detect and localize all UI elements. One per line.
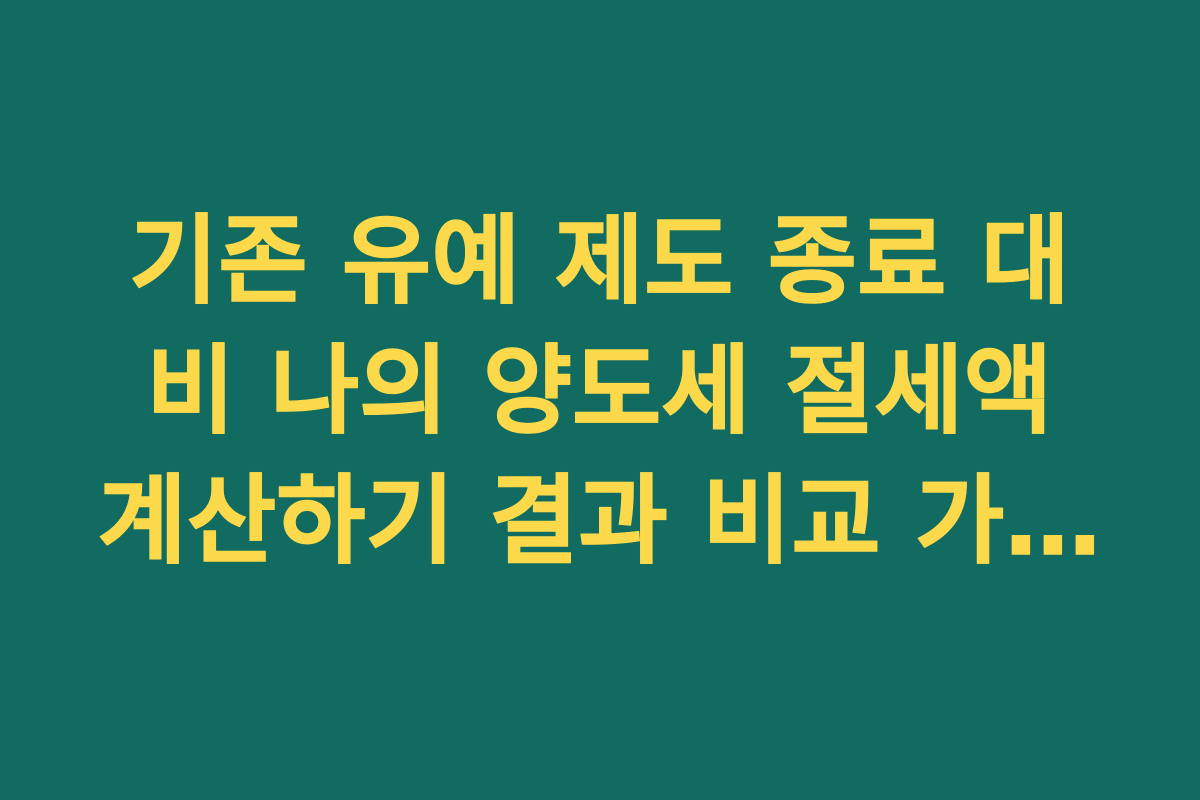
title-line-1: 기존 유예 제도 종료 대 xyxy=(129,196,1070,326)
page-title: 기존 유예 제도 종료 대 비 나의 양도세 절세액 계산하기 결과 비교 가… xyxy=(85,196,1115,586)
title-line-2: 비 나의 양도세 절세액 xyxy=(147,326,1054,456)
title-line-3: 계산하기 결과 비교 가… xyxy=(98,456,1102,586)
thumbnail-canvas: 기존 유예 제도 종료 대 비 나의 양도세 절세액 계산하기 결과 비교 가… xyxy=(0,0,1200,800)
